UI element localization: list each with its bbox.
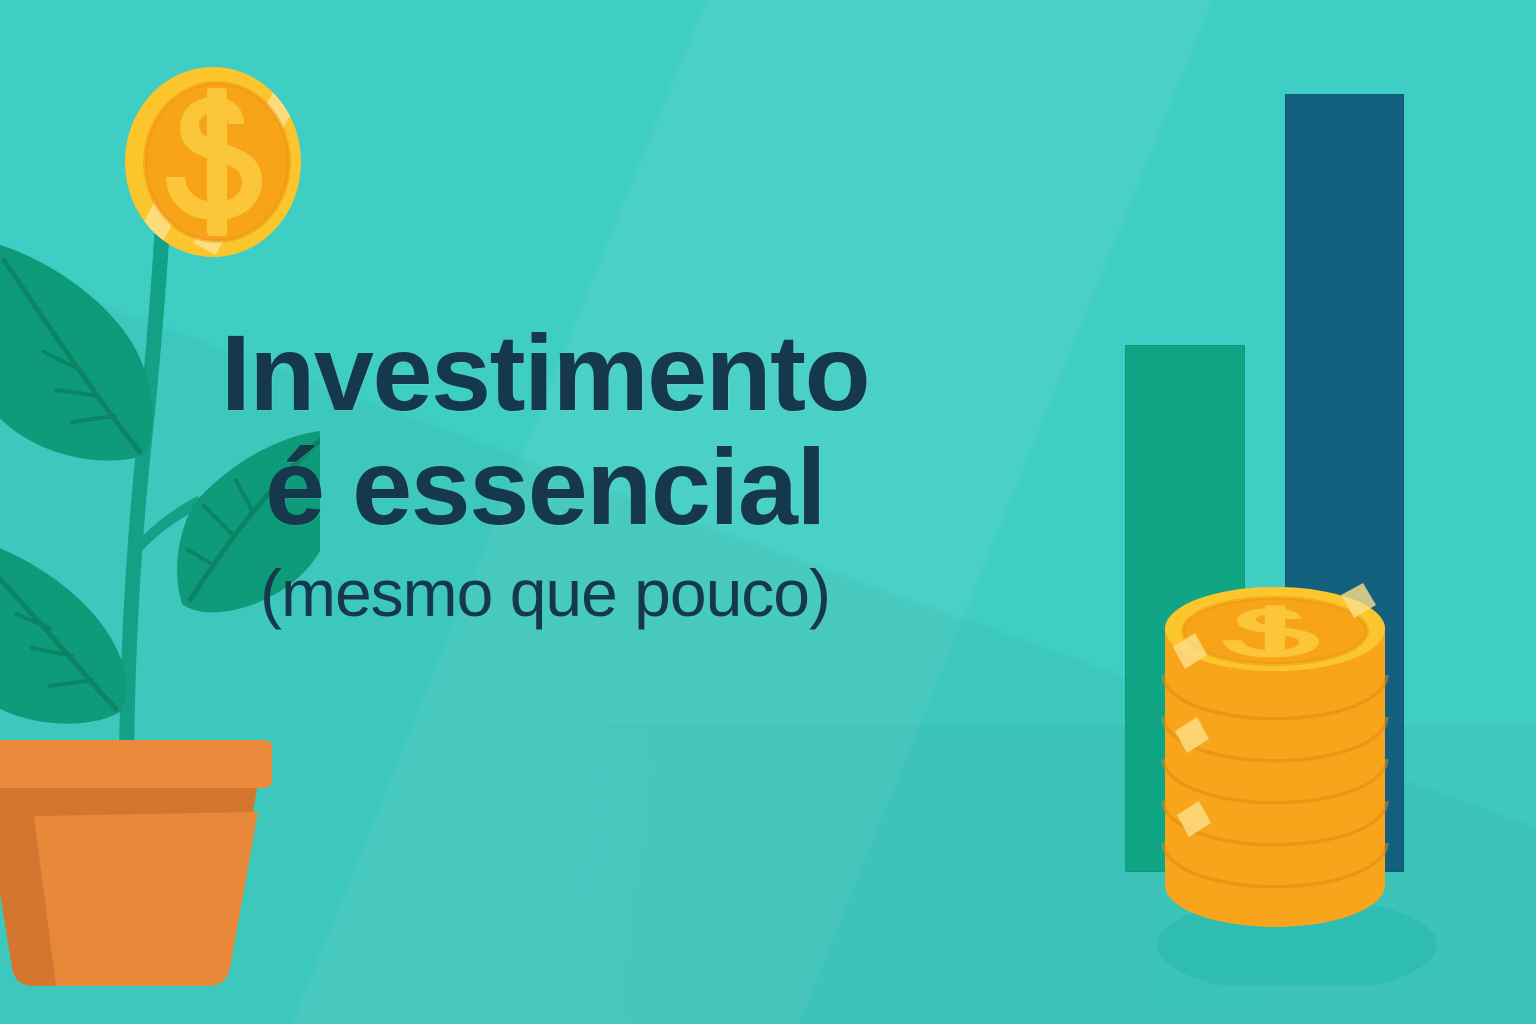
coin-dollar-icon xyxy=(118,62,308,262)
subheadline: (mesmo que pouco) xyxy=(0,560,1090,626)
coin-stack-icon xyxy=(1145,525,1445,985)
poster-text-block: Investimento é essencial (mesmo que pouc… xyxy=(0,318,1090,626)
flower-pot-icon xyxy=(0,730,280,990)
headline-line-2: é essencial xyxy=(0,432,1090,542)
pot-body-front xyxy=(34,812,258,986)
poster-canvas: Investimento é essencial (mesmo que pouc… xyxy=(0,0,1536,1024)
headline-line-1: Investimento xyxy=(0,318,1090,428)
pot-rim xyxy=(0,740,272,788)
